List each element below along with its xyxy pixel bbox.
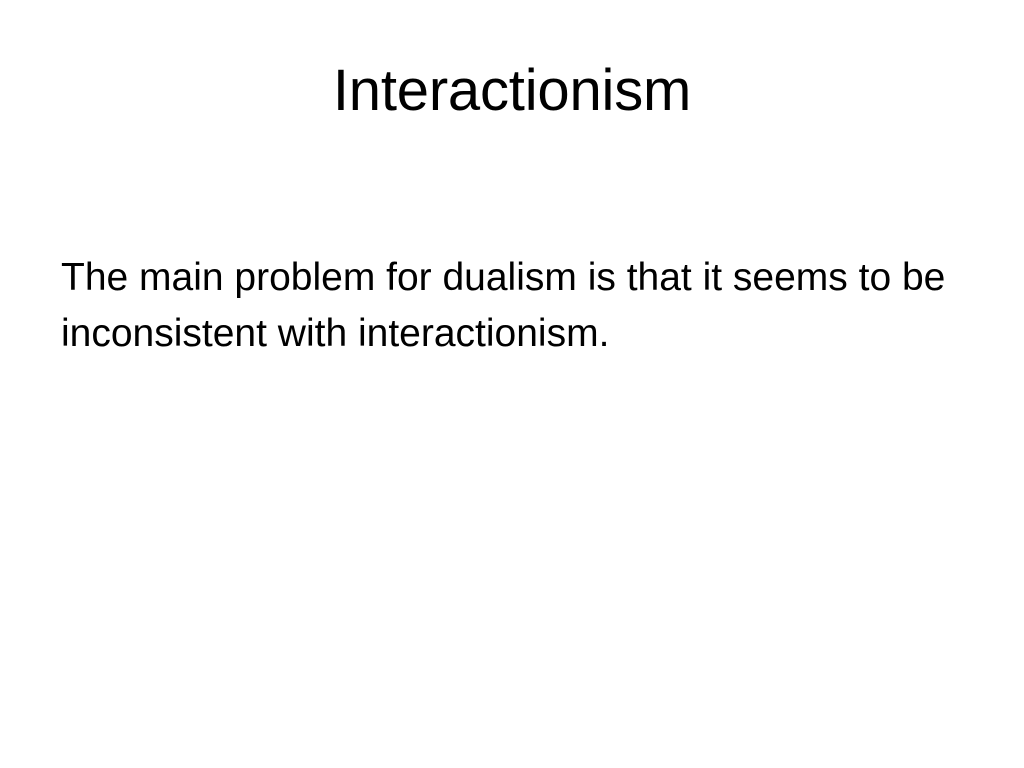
slide-title: Interactionism xyxy=(0,58,1024,125)
body-paragraph: The main problem for dualism is that it … xyxy=(61,250,963,362)
presentation-slide: Interactionism The main problem for dual… xyxy=(0,0,1024,768)
slide-body-text-block: The main problem for dualism is that it … xyxy=(61,250,963,362)
empty-content-area xyxy=(61,360,963,700)
